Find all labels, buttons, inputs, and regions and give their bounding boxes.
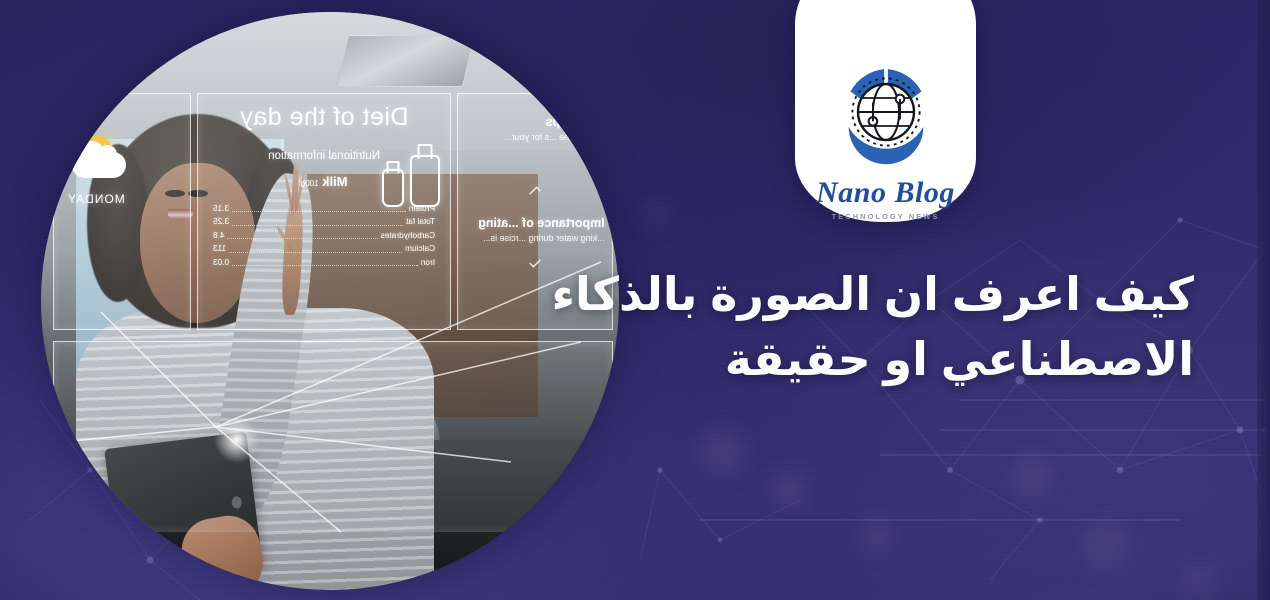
nutrition-row: Iron 0.03 [213,256,435,269]
hero-photo-circle: MONDAY Diet of the day Nutritional infor… [41,12,619,590]
nutrition-row: Calcium 113 [213,242,435,255]
hud-weather-day: MONDAY [67,192,125,206]
hud-tip-travel: travel tips ...pared the ...s for your..… [466,115,605,144]
chevron-up-icon[interactable] [528,188,542,196]
smart-mirror-hud: MONDAY Diet of the day Nutritional infor… [41,12,619,590]
bottle-icon [382,169,404,207]
banner-root: MONDAY Diet of the day Nutritional infor… [0,0,1270,600]
nutrition-row: Total fat 3.25 [213,215,435,228]
logo-card[interactable]: Nano Blog TECHNOLOGY NEWS [795,0,976,222]
globe-logo-icon [830,56,942,168]
hud-title: Diet of the day [198,103,450,132]
hud-tip-hydration: Importance of ...ating ...king water dur… [466,216,605,245]
hud-panel-lower [53,341,614,532]
cloud-icon [72,152,126,178]
chevron-down-icon[interactable] [528,258,542,266]
hud-panel-weather: MONDAY [53,93,192,330]
hud-nutrition-list: Protein 3.15 Total fat 3.25 Carbohydrate… [213,202,435,269]
hud-panel-diet: Diet of the day Nutritional information … [197,93,451,330]
right-edge-strip [1257,0,1270,600]
bottle-icon [410,155,440,207]
logo-wordmark: Nano Blog [795,176,976,210]
light-flare [214,417,260,463]
logo-tagline: TECHNOLOGY NEWS [795,212,976,221]
headline-line-2: الاصطناعي او حقيقة [594,327,1194,392]
page-title: كيف اعرف ان الصورة بالذكاء الاصطناعي او … [594,262,1194,393]
nutrition-row: Carbohydrates 4.8 [213,229,435,242]
headline-line-1: كيف اعرف ان الصورة بالذكاء [594,262,1194,327]
